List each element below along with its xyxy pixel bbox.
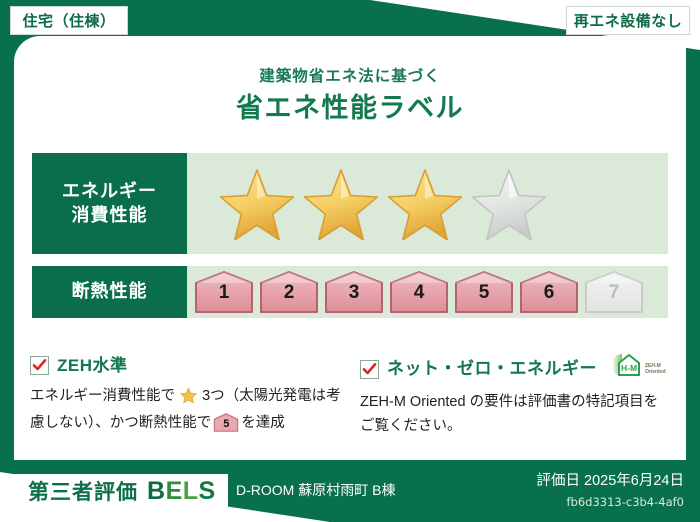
zeh-standard-title: ZEH水準 (57, 352, 128, 380)
insulation-performance-row: 断熱性能 1234567 (32, 266, 668, 318)
svg-text:Oriented: Oriented (645, 369, 666, 375)
page-title: 省エネ性能ラベル (0, 86, 700, 125)
insulation-level-value: 2 (258, 282, 320, 304)
property-name: D-ROOM 蘇原村雨町 B棟 (236, 480, 395, 500)
subtitle: 建築物省エネ法に基づく (0, 64, 700, 86)
insulation-level-value: 7 (583, 282, 645, 304)
evaluation-date: 評価日 2025年6月24日 (537, 469, 684, 490)
inline-insulation-badge: 5 (213, 413, 239, 432)
insulation-level-badge-filled: 5 (453, 270, 515, 314)
third-party-label: 第三者評価 (28, 476, 138, 506)
energy-performance-value (187, 153, 668, 254)
insulation-label-text: 断熱性能 (72, 280, 148, 303)
net-zero-energy-title: ネット・ゼロ・エネルギー (387, 355, 597, 383)
star-filled-icon (219, 167, 295, 240)
tag-renewable-equipment: 再エネ設備なし (566, 6, 690, 35)
insulation-performance-value: 1234567 (187, 266, 668, 318)
zeh-text-part3: を達成 (241, 415, 285, 431)
insulation-level-badge-filled: 3 (323, 270, 385, 314)
zeh-standard-block: ZEH水準 エネルギー消費性能で 3つ（太陽光発電は考慮しない）、かつ断熱性能で… (30, 352, 348, 436)
zeh-m-oriented-logo-icon: H-M ZEH-M Oriented (609, 352, 671, 386)
tag-renewable-equipment-label: 再エネ設備なし (574, 10, 683, 31)
inline-star-icon (176, 392, 201, 408)
insulation-level-value: 6 (518, 282, 580, 304)
bels-letter: E (166, 477, 183, 505)
insulation-level-scale: 1234567 (187, 270, 645, 314)
evaluation-date-label: 評価日 (537, 473, 581, 489)
energy-performance-label: エネルギー 消費性能 (32, 153, 187, 254)
insulation-level-value: 4 (388, 282, 450, 304)
insulation-level-value: 1 (193, 282, 255, 304)
insulation-level-value: 3 (323, 282, 385, 304)
insulation-level-badge-filled: 6 (518, 270, 580, 314)
energy-label-line2: 消費性能 (72, 204, 148, 227)
star-rating (187, 167, 547, 240)
zeh-standard-description: エネルギー消費性能で 3つ（太陽光発電は考慮しない）、かつ断熱性能で 5 を達成 (30, 385, 348, 436)
net-zero-energy-block: ネット・ゼロ・エネルギー H-M ZEH-M Oriented (360, 352, 672, 438)
insulation-level-value: 5 (453, 282, 515, 304)
evaluation-date-value: 2025年6月24日 (584, 473, 684, 489)
bels-certification-badge: 第三者評価 BELS (14, 474, 228, 508)
inline-badge-value: 5 (213, 416, 239, 434)
insulation-level-badge-filled: 2 (258, 270, 320, 314)
star-empty-icon (471, 167, 547, 240)
tag-building-type: 住宅（住棟） (10, 6, 128, 35)
insulation-level-badge-filled: 1 (193, 270, 255, 314)
star-filled-icon (387, 167, 463, 240)
net-zero-energy-description: ZEH-M Oriented の要件は評価書の特記項目をご覧ください。 (360, 391, 672, 438)
energy-performance-row: エネルギー 消費性能 (32, 153, 668, 254)
checkmark-icon (360, 360, 379, 379)
bels-letter: L (183, 477, 199, 505)
energy-label-line1: エネルギー (62, 180, 157, 203)
zeh-standard-header: ZEH水準 (30, 352, 348, 380)
star-filled-icon (303, 167, 379, 240)
bels-letter: S (199, 477, 216, 505)
svg-text:H-M: H-M (621, 363, 637, 373)
bels-logo: BELS (147, 477, 216, 506)
zeh-text-part1: エネルギー消費性能で (30, 388, 175, 404)
bels-letter: B (147, 477, 166, 505)
certificate-id: fb6d3313-c3b4-4af0 (566, 495, 684, 509)
insulation-performance-label: 断熱性能 (32, 266, 187, 318)
tag-building-type-label: 住宅（住棟） (22, 10, 115, 31)
insulation-level-badge-filled: 4 (388, 270, 450, 314)
insulation-level-badge-empty: 7 (583, 270, 645, 314)
net-zero-energy-header: ネット・ゼロ・エネルギー H-M ZEH-M Oriented (360, 352, 672, 386)
checkmark-icon (30, 356, 49, 375)
bels-energy-label: 住宅（住棟） 再エネ設備なし 建築物省エネ法に基づく 省エネ性能ラベル エネルギ… (0, 0, 700, 522)
